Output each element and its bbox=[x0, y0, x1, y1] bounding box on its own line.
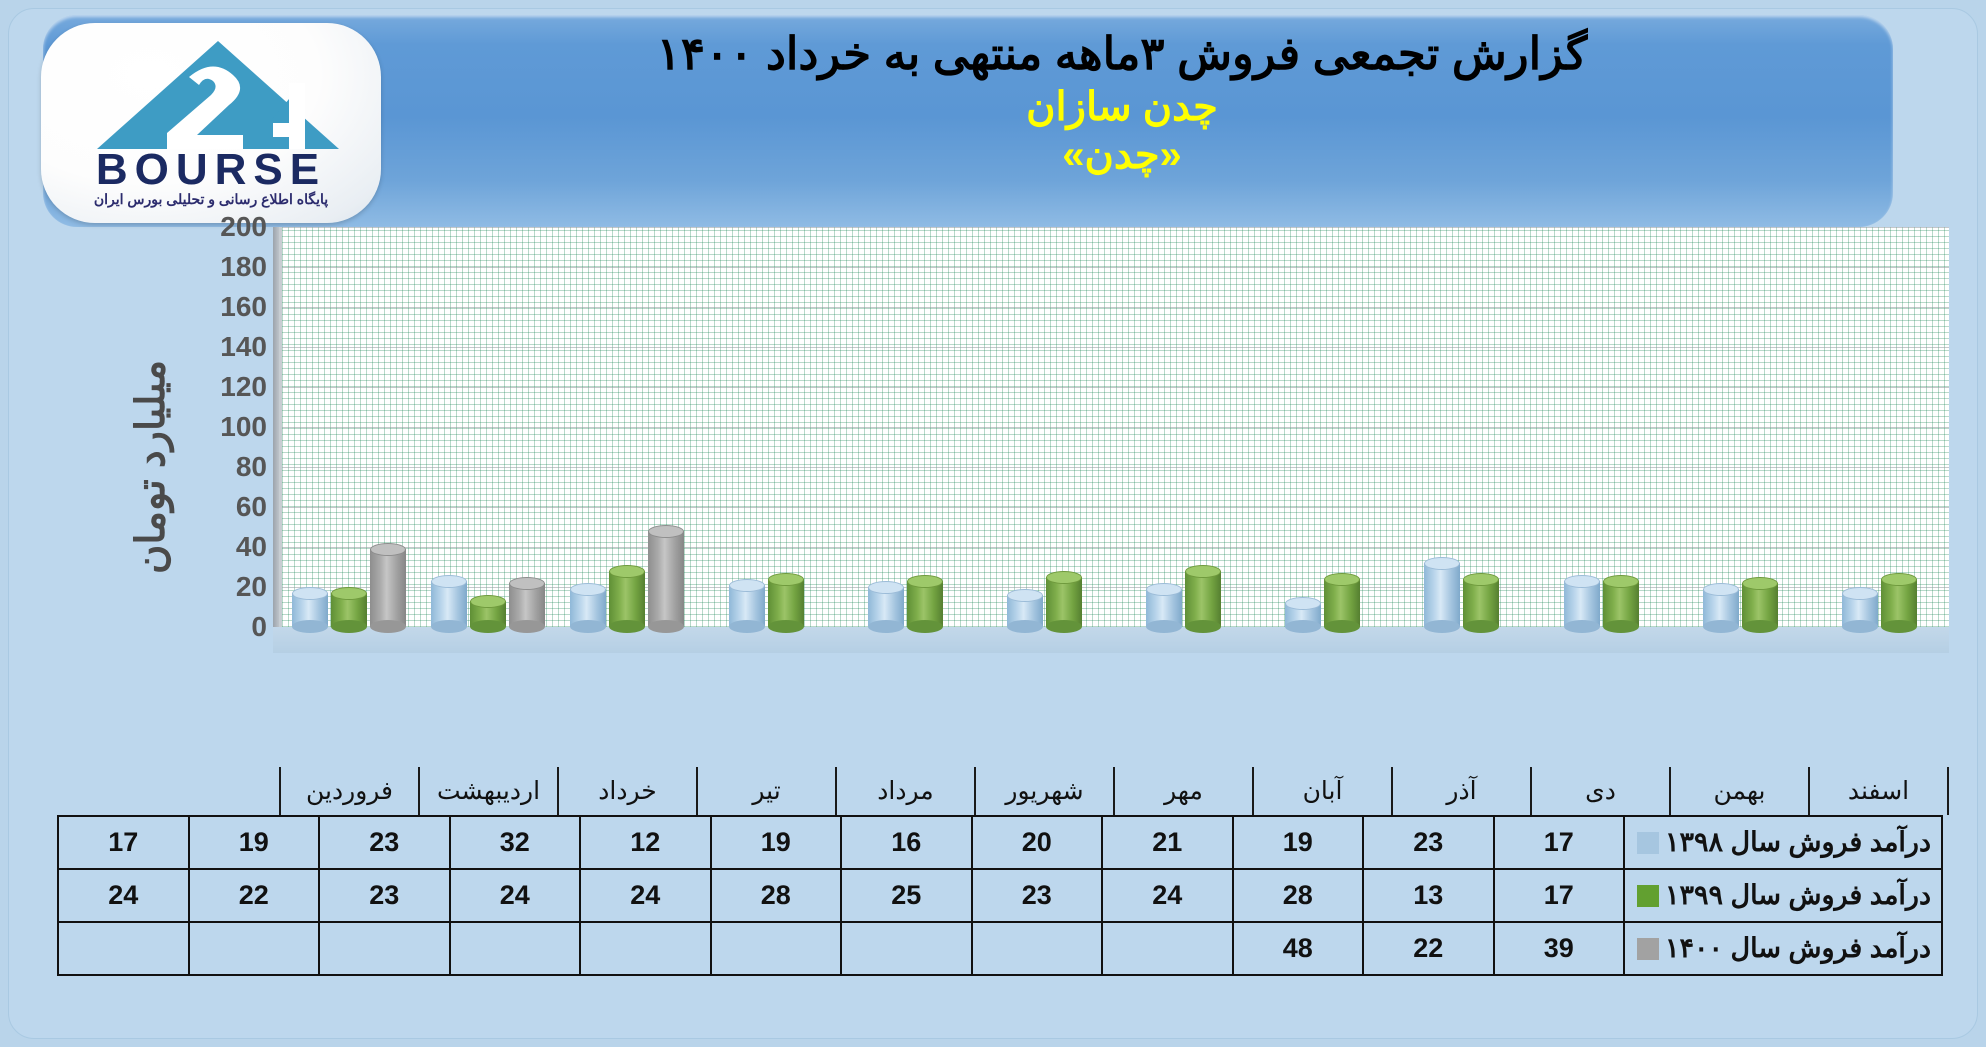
bar-base-ellipse bbox=[1185, 620, 1221, 633]
bar-cylinder bbox=[470, 601, 506, 627]
legend-swatch-icon bbox=[1637, 832, 1659, 854]
bar-base-ellipse bbox=[1324, 620, 1360, 633]
bar-cylinder bbox=[1703, 589, 1739, 627]
bar-cylinder bbox=[1146, 589, 1182, 627]
y-axis-title: میلیارد تومان bbox=[121, 297, 181, 637]
bar-cylinder bbox=[570, 589, 606, 627]
table-cell: 22 bbox=[1363, 922, 1494, 975]
table-cell bbox=[841, 922, 972, 975]
legend-cell: درآمد فروش سال ۱۳۹۸ bbox=[1624, 816, 1942, 869]
table-cell: 48 bbox=[1233, 922, 1364, 975]
bar-top-ellipse bbox=[907, 575, 943, 588]
bar-group bbox=[1253, 227, 1392, 627]
bar-cylinder bbox=[1881, 579, 1917, 627]
bar-base-ellipse bbox=[370, 620, 406, 633]
bar-base-ellipse bbox=[907, 620, 943, 633]
bar-base-ellipse bbox=[431, 620, 467, 633]
table-cell bbox=[972, 922, 1103, 975]
y-axis-tick-label: 160 bbox=[189, 291, 267, 323]
bar-base-ellipse bbox=[1146, 620, 1182, 633]
bar-top-ellipse bbox=[1881, 573, 1917, 586]
y-axis-tick-label: 20 bbox=[189, 571, 267, 603]
bar-base-ellipse bbox=[609, 620, 645, 633]
bar-base-ellipse bbox=[1046, 620, 1082, 633]
bar-group bbox=[1671, 227, 1810, 627]
table-row: درآمد فروش سال ۱۴۰۰392248 bbox=[58, 922, 1942, 975]
bar-top-ellipse bbox=[470, 595, 506, 608]
y-axis-tick-label: 200 bbox=[189, 211, 267, 243]
bar-base-ellipse bbox=[648, 620, 684, 633]
bar-cylinder bbox=[907, 581, 943, 627]
table-cell: 23 bbox=[319, 869, 450, 922]
x-axis-label-5: مرداد bbox=[835, 767, 974, 815]
bar-cylinder bbox=[609, 571, 645, 627]
table-cell bbox=[58, 922, 189, 975]
table-cell bbox=[189, 922, 320, 975]
bar-cylinder bbox=[509, 583, 545, 627]
bar-top-ellipse bbox=[1185, 565, 1221, 578]
table-cell: 28 bbox=[711, 869, 842, 922]
company-name: چدن سازان bbox=[407, 83, 1837, 132]
table-cell: 16 bbox=[841, 816, 972, 869]
x-axis-label-10: دی bbox=[1530, 767, 1669, 815]
table-cell: 12 bbox=[580, 816, 711, 869]
company-ticker: «چدن» bbox=[407, 131, 1837, 180]
logo-tagline: پایگاه اطلاع رسانی و تحلیلی بورس ایران bbox=[41, 191, 381, 208]
table-cell: 17 bbox=[1494, 869, 1625, 922]
bar-base-ellipse bbox=[1842, 620, 1878, 633]
legend-label: درآمد فروش سال ۱۳۹۸ bbox=[1665, 827, 1931, 857]
bar-cylinder bbox=[1324, 579, 1360, 627]
bar-top-ellipse bbox=[509, 577, 545, 590]
bar-cylinder bbox=[1842, 593, 1878, 627]
bar-base-ellipse bbox=[470, 620, 506, 633]
page-title: گزارش تجمعی فروش ۳ماهه منتهی به خرداد ۱۴… bbox=[407, 25, 1837, 83]
bar-cylinder bbox=[1185, 571, 1221, 627]
y-axis-tick-label: 120 bbox=[189, 371, 267, 403]
x-axis-label-1: فروردین bbox=[279, 767, 418, 815]
bar-body bbox=[609, 571, 645, 627]
bar-top-ellipse bbox=[331, 587, 367, 600]
y-axis-tick-label: 60 bbox=[189, 491, 267, 523]
bar-top-ellipse bbox=[648, 525, 684, 538]
table-cell bbox=[1102, 922, 1233, 975]
bar-base-ellipse bbox=[1742, 620, 1778, 633]
bar-group bbox=[836, 227, 975, 627]
bar-top-ellipse bbox=[1603, 575, 1639, 588]
y-axis-tick-label: 100 bbox=[189, 411, 267, 443]
bar-group bbox=[1532, 227, 1671, 627]
bar-base-ellipse bbox=[331, 620, 367, 633]
bar-cylinder bbox=[431, 581, 467, 627]
bar-base-ellipse bbox=[509, 620, 545, 633]
bar-group bbox=[418, 227, 557, 627]
table-cell: 19 bbox=[189, 816, 320, 869]
header-title-block: گزارش تجمعی فروش ۳ماهه منتهی به خرداد ۱۴… bbox=[407, 25, 1837, 180]
bar-cylinder bbox=[292, 593, 328, 627]
bar-top-ellipse bbox=[1742, 577, 1778, 590]
table-cell: 24 bbox=[580, 869, 711, 922]
bar-cylinder bbox=[729, 585, 765, 627]
bar-top-ellipse bbox=[1285, 597, 1321, 610]
bar-cylinder bbox=[1463, 579, 1499, 627]
bar-base-ellipse bbox=[292, 620, 328, 633]
bar-top-ellipse bbox=[292, 587, 328, 600]
bar-top-ellipse bbox=[1146, 583, 1182, 596]
bar-base-ellipse bbox=[1703, 620, 1739, 633]
table-cell: 24 bbox=[58, 869, 189, 922]
bar-base-ellipse bbox=[1564, 620, 1600, 633]
bar-group bbox=[1114, 227, 1253, 627]
table-cell: 17 bbox=[58, 816, 189, 869]
bar-cylinder bbox=[768, 579, 804, 627]
table-cell bbox=[450, 922, 581, 975]
bar-cylinder bbox=[1046, 577, 1082, 627]
bar-top-ellipse bbox=[1324, 573, 1360, 586]
x-axis-label-9: آذر bbox=[1391, 767, 1530, 815]
bar-base-ellipse bbox=[768, 620, 804, 633]
table-cell: 19 bbox=[1233, 816, 1364, 869]
chart: میلیارد تومان 20018016014012010080604020… bbox=[21, 227, 1971, 827]
x-axis-label-12: اسفند bbox=[1808, 767, 1949, 815]
bar-series-container bbox=[279, 227, 1949, 627]
report-page: گزارش تجمعی فروش ۳ماهه منتهی به خرداد ۱۴… bbox=[8, 8, 1978, 1039]
logo-badge[interactable]: BOURSE پایگاه اطلاع رسانی و تحلیلی بورس … bbox=[41, 23, 381, 223]
table-cell: 23 bbox=[1363, 816, 1494, 869]
bar-cylinder bbox=[331, 593, 367, 627]
bar-group bbox=[279, 227, 418, 627]
bar-base-ellipse bbox=[1881, 620, 1917, 633]
legend-cell: درآمد فروش سال ۱۴۰۰ bbox=[1624, 922, 1942, 975]
table-cell bbox=[580, 922, 711, 975]
bar-base-ellipse bbox=[1285, 620, 1321, 633]
bar-top-ellipse bbox=[370, 543, 406, 556]
legend-label: درآمد فروش سال ۱۴۰۰ bbox=[1665, 933, 1931, 963]
table-cell: 24 bbox=[1102, 869, 1233, 922]
x-axis-labels: فروردیناردیبهشتخردادتیرمردادشهریورمهرآبا… bbox=[21, 767, 1971, 815]
bar-body bbox=[1185, 571, 1221, 627]
bar-top-ellipse bbox=[868, 581, 904, 594]
table-cell: 28 bbox=[1233, 869, 1364, 922]
logo-wordmark: BOURSE bbox=[41, 145, 381, 195]
x-axis-label-7: مهر bbox=[1113, 767, 1252, 815]
bar-top-ellipse bbox=[609, 565, 645, 578]
y-axis-tick-label: 140 bbox=[189, 331, 267, 363]
legend-cell: درآمد فروش سال ۱۳۹۹ bbox=[1624, 869, 1942, 922]
bar-base-ellipse bbox=[729, 620, 765, 633]
bar-group bbox=[1392, 227, 1531, 627]
x-axis-label-4: تیر bbox=[696, 767, 835, 815]
bar-base-ellipse bbox=[570, 620, 606, 633]
bar-body bbox=[1424, 563, 1460, 627]
table-cell: 20 bbox=[972, 816, 1103, 869]
bar-cylinder bbox=[1742, 583, 1778, 627]
table-row: درآمد فروش سال ۱۳۹۹171328242325282424232… bbox=[58, 869, 1942, 922]
bar-top-ellipse bbox=[1046, 571, 1082, 584]
bar-cylinder bbox=[1007, 595, 1043, 627]
x-axis-label-3: خرداد bbox=[557, 767, 696, 815]
x-axis-label-8: آبان bbox=[1252, 767, 1391, 815]
table-cell: 25 bbox=[841, 869, 972, 922]
table-cell: 24 bbox=[450, 869, 581, 922]
table-cell: 32 bbox=[450, 816, 581, 869]
bar-top-ellipse bbox=[570, 583, 606, 596]
table-cell: 23 bbox=[319, 816, 450, 869]
bar-cylinder bbox=[1603, 581, 1639, 627]
legend-swatch-icon bbox=[1637, 938, 1659, 960]
x-axis-label-6: شهریور bbox=[974, 767, 1113, 815]
bar-top-ellipse bbox=[729, 579, 765, 592]
bar-group bbox=[557, 227, 696, 627]
bar-group bbox=[697, 227, 836, 627]
bar-cylinder bbox=[648, 531, 684, 627]
bar-cylinder bbox=[1424, 563, 1460, 627]
data-table: درآمد فروش سال ۱۳۹۸172319212016191232231… bbox=[57, 815, 1943, 976]
bar-top-ellipse bbox=[431, 575, 467, 588]
bar-top-ellipse bbox=[1703, 583, 1739, 596]
y-axis-ticks: 200180160140120100806040200 bbox=[189, 227, 267, 627]
y-axis-tick-label: 40 bbox=[189, 531, 267, 563]
bar-group bbox=[975, 227, 1114, 627]
bar-base-ellipse bbox=[1603, 620, 1639, 633]
table-cell: 13 bbox=[1363, 869, 1494, 922]
bar-base-ellipse bbox=[868, 620, 904, 633]
bar-body bbox=[370, 549, 406, 627]
table-cell: 22 bbox=[189, 869, 320, 922]
x-axis-label-2: اردیبهشت bbox=[418, 767, 557, 815]
y-axis-tick-label: 180 bbox=[189, 251, 267, 283]
bar-cylinder bbox=[370, 549, 406, 627]
table-cell: 21 bbox=[1102, 816, 1233, 869]
y-axis-tick-label: 80 bbox=[189, 451, 267, 483]
table-cell: 23 bbox=[972, 869, 1103, 922]
legend-label: درآمد فروش سال ۱۳۹۹ bbox=[1665, 880, 1931, 910]
bar-top-ellipse bbox=[1007, 589, 1043, 602]
legend-swatch-icon bbox=[1637, 885, 1659, 907]
bar-top-ellipse bbox=[768, 573, 804, 586]
bar-cylinder bbox=[1285, 603, 1321, 627]
table-cell: 17 bbox=[1494, 816, 1625, 869]
y-axis-tick-label: 0 bbox=[189, 611, 267, 643]
table-cell: 39 bbox=[1494, 922, 1625, 975]
x-axis-label-11: بهمن bbox=[1669, 767, 1808, 815]
bar-cylinder bbox=[868, 587, 904, 627]
bar-body bbox=[648, 531, 684, 627]
table-row: درآمد فروش سال ۱۳۹۸172319212016191232231… bbox=[58, 816, 1942, 869]
bourse24-logo-icon bbox=[93, 37, 343, 153]
bar-top-ellipse bbox=[1842, 587, 1878, 600]
bar-cylinder bbox=[1564, 581, 1600, 627]
y-axis-title-text: میلیارد تومان bbox=[128, 360, 174, 574]
table-cell bbox=[711, 922, 842, 975]
table-cell: 19 bbox=[711, 816, 842, 869]
table-cell bbox=[319, 922, 450, 975]
bar-group bbox=[1810, 227, 1949, 627]
bar-top-ellipse bbox=[1564, 575, 1600, 588]
bar-base-ellipse bbox=[1007, 620, 1043, 633]
